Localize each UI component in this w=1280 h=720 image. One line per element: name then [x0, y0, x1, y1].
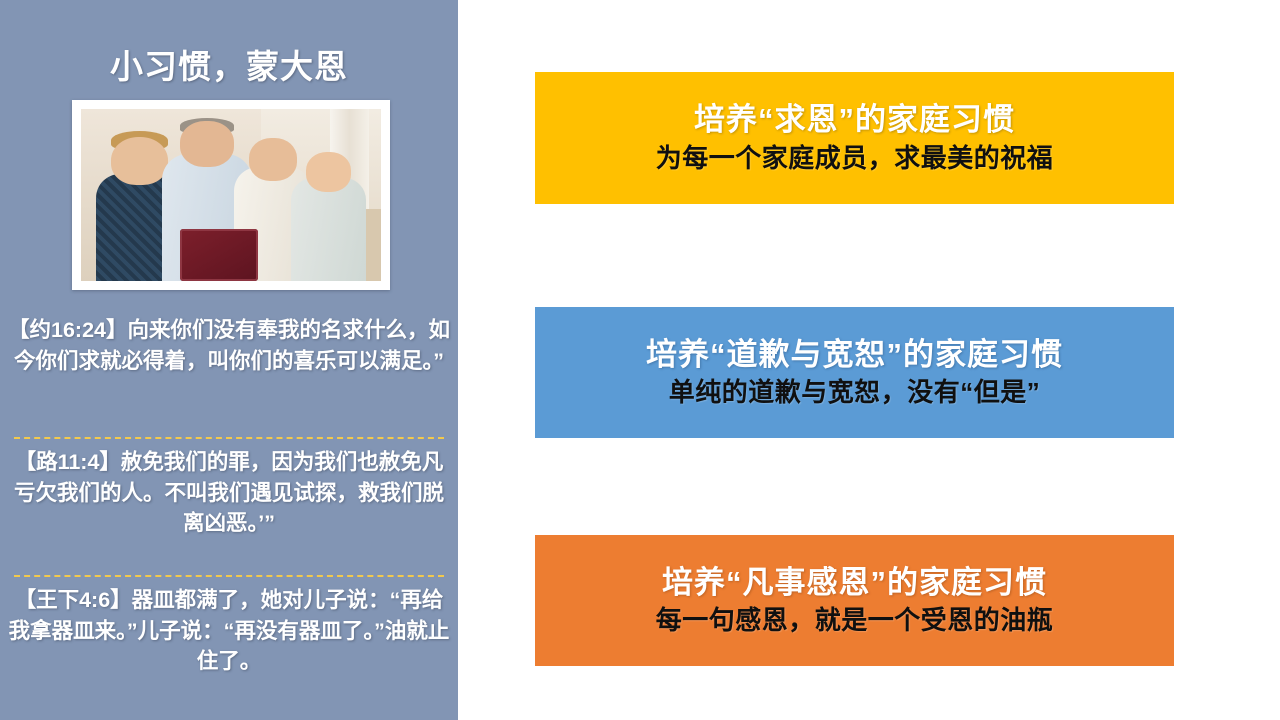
photo-figure-mother-head — [249, 138, 297, 181]
photo-bible-book — [180, 229, 258, 281]
sidebar-panel: 小习惯，蒙大恩 【约16 — [0, 0, 458, 720]
scripture-verse: 【约16:24】向来你们没有奉我的名求什么，如今你们求就必得着，叫你们的喜乐可以… — [8, 315, 450, 376]
habit-card-title: 培养“求恩”的家庭习惯 — [694, 102, 1015, 138]
photo-figure-father-head — [180, 121, 234, 167]
family-photo-frame — [72, 100, 390, 290]
verse-divider — [14, 437, 444, 439]
photo-figure-boy-head — [111, 137, 168, 185]
habit-card-title: 培养“道歉与宽恕”的家庭习惯 — [646, 337, 1063, 373]
scripture-verse: 【王下4:6】器皿都满了，她对儿子说：“再给我拿器皿来。”儿子说：“再没有器皿了… — [8, 585, 450, 677]
habit-card-seek-grace: 培养“求恩”的家庭习惯 为每一个家庭成员，求最美的祝福 — [535, 72, 1174, 204]
page-title: 小习惯，蒙大恩 — [0, 40, 458, 88]
habit-card-title: 培养“凡事感恩”的家庭习惯 — [662, 565, 1047, 601]
scripture-verse: 【路11:4】赦免我们的罪，因为我们也赦免凡亏欠我们的人。不叫我们遇见试探，救我… — [8, 447, 450, 539]
presentation-slide: 小习惯，蒙大恩 【约16 — [0, 0, 1280, 720]
photo-figure-girl-head — [306, 152, 351, 192]
habit-card-subtitle: 单纯的道歉与宽恕，没有“但是” — [669, 378, 1041, 408]
family-reading-bible-photo — [81, 109, 381, 281]
photo-figure-girl-body — [291, 178, 366, 281]
habit-card-thanksgiving: 培养“凡事感恩”的家庭习惯 每一句感恩，就是一个受恩的油瓶 — [535, 535, 1174, 666]
habit-card-apology-forgiveness: 培养“道歉与宽恕”的家庭习惯 单纯的道歉与宽恕，没有“但是” — [535, 307, 1174, 438]
habit-card-subtitle: 为每一个家庭成员，求最美的祝福 — [656, 144, 1054, 174]
verse-divider — [14, 575, 444, 577]
habit-card-subtitle: 每一句感恩，就是一个受恩的油瓶 — [656, 606, 1054, 636]
